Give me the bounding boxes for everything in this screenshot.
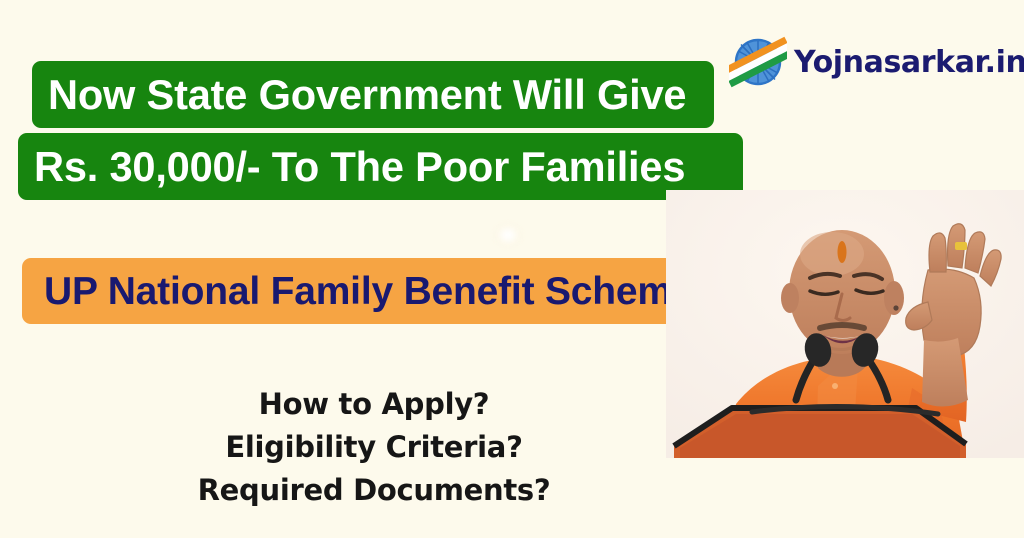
site-logo: Yojnasarkar.in: [729, 33, 1024, 91]
poster-image: Yojnasarkar.in Now State Government Will…: [0, 0, 1024, 538]
question-eligibility: Eligibility Criteria?: [40, 426, 708, 469]
ashoka-chakra-tricolor-emblem-icon: [729, 33, 787, 91]
questions-list: How to Apply? Eligibility Criteria? Requ…: [40, 383, 708, 512]
headline-line1-text: Now State Government Will Give: [48, 74, 686, 116]
politician-photo-illustration: [666, 190, 1024, 458]
image-artifact: [493, 222, 523, 248]
headline-banner-line2: Rs. 30,000/- To The Poor Families: [18, 133, 743, 200]
headline-banner-line1: Now State Government Will Give: [32, 61, 714, 128]
headline-line2-text: Rs. 30,000/- To The Poor Families: [34, 146, 685, 188]
question-required-documents: Required Documents?: [40, 469, 708, 512]
logo-text: Yojnasarkar.in: [794, 45, 1024, 80]
scheme-title-banner: UP National Family Benefit Scheme: [22, 258, 775, 324]
politician-photo: [666, 190, 1024, 458]
scheme-title-text: UP National Family Benefit Scheme: [44, 272, 693, 311]
question-how-to-apply: How to Apply?: [40, 383, 708, 426]
